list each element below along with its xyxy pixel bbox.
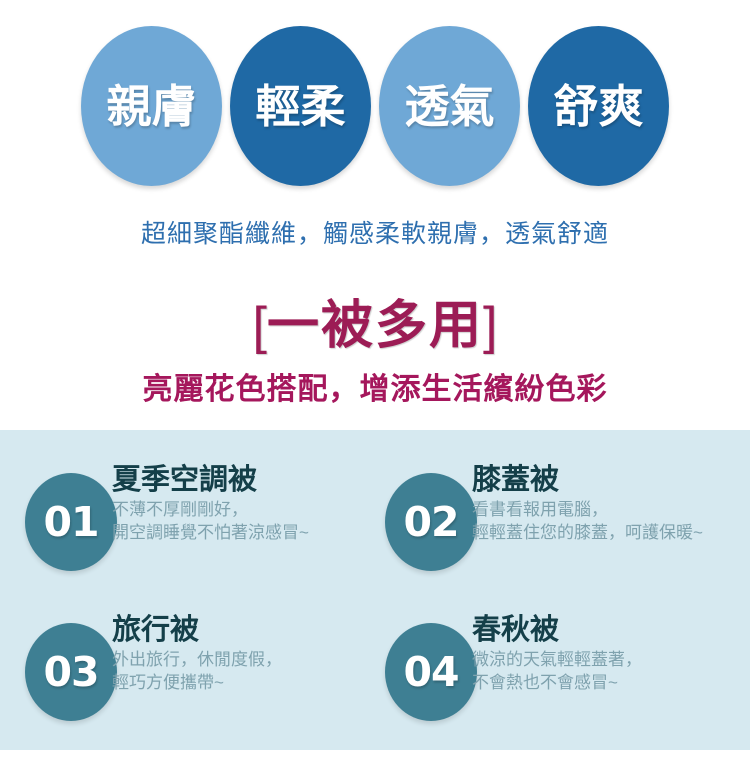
usage-number-04: 04 bbox=[403, 648, 458, 696]
usage-badge-02: 02 bbox=[385, 473, 477, 571]
usage-title-03: 旅行被 bbox=[112, 615, 372, 646]
material-subtitle: 超細聚酯纖維，觸感柔軟親膚，透氣舒適 bbox=[0, 214, 750, 250]
feature-circle-row: 親膚 輕柔 透氣 舒爽 bbox=[0, 26, 750, 186]
usage-item-04: 04 春秋被 微涼的天氣輕輕蓋著， 不會熱也不會感冒~ bbox=[360, 615, 735, 765]
headline-bracket-left: [ bbox=[253, 297, 267, 355]
usage-grid: 01 夏季空調被 不薄不厚剛剛好， 開空調睡覺不怕著涼感冒~ 02 膝蓋被 看書… bbox=[0, 430, 750, 750]
usage-desc-01-line1: 不薄不厚剛剛好， bbox=[112, 498, 372, 521]
usage-number-01: 01 bbox=[43, 498, 98, 546]
feature-circle-3-label: 透氣 bbox=[404, 84, 494, 129]
usage-number-03: 03 bbox=[43, 648, 98, 696]
feature-circle-2: 輕柔 bbox=[230, 26, 371, 186]
usage-item-02: 02 膝蓋被 看書看報用電腦， 輕輕蓋住您的膝蓋，呵護保暖~ bbox=[360, 465, 735, 615]
feature-circle-1: 親膚 bbox=[81, 26, 222, 186]
usage-body-03: 旅行被 外出旅行，休閒度假， 輕巧方便攜帶~ bbox=[112, 615, 372, 695]
feature-circle-4: 舒爽 bbox=[528, 26, 669, 186]
usage-desc-01-line2: 開空調睡覺不怕著涼感冒~ bbox=[112, 521, 372, 544]
usage-desc-02-line1: 看書看報用電腦， bbox=[472, 498, 732, 521]
usage-item-01: 01 夏季空調被 不薄不厚剛剛好， 開空調睡覺不怕著涼感冒~ bbox=[0, 465, 375, 615]
usage-badge-04: 04 bbox=[385, 623, 477, 721]
usage-badge-03: 03 bbox=[25, 623, 117, 721]
usage-title-04: 春秋被 bbox=[472, 615, 732, 646]
product-feature-banner: 親膚 輕柔 透氣 舒爽 超細聚酯纖維，觸感柔軟親膚，透氣舒適 [一被多用] 亮麗… bbox=[0, 0, 750, 750]
feature-circle-2-label: 輕柔 bbox=[255, 84, 345, 129]
usage-desc-04-line2: 不會熱也不會感冒~ bbox=[472, 671, 732, 694]
usage-body-02: 膝蓋被 看書看報用電腦， 輕輕蓋住您的膝蓋，呵護保暖~ bbox=[472, 465, 732, 545]
usage-title-02: 膝蓋被 bbox=[472, 465, 732, 496]
headline-text: 一被多用 bbox=[267, 297, 483, 355]
usage-section: 01 夏季空調被 不薄不厚剛剛好， 開空調睡覺不怕著涼感冒~ 02 膝蓋被 看書… bbox=[0, 430, 750, 750]
top-feature-section: 親膚 輕柔 透氣 舒爽 超細聚酯纖維，觸感柔軟親膚，透氣舒適 [一被多用] 亮麗… bbox=[0, 0, 750, 430]
usage-desc-02-line2: 輕輕蓋住您的膝蓋，呵護保暖~ bbox=[472, 521, 732, 544]
headline: [一被多用] bbox=[0, 283, 750, 358]
usage-body-01: 夏季空調被 不薄不厚剛剛好， 開空調睡覺不怕著涼感冒~ bbox=[112, 465, 372, 545]
feature-circle-3: 透氣 bbox=[379, 26, 520, 186]
tagline: 亮麗花色搭配，增添生活繽紛色彩 bbox=[0, 364, 750, 408]
usage-item-03: 03 旅行被 外出旅行，休閒度假， 輕巧方便攜帶~ bbox=[0, 615, 375, 765]
usage-number-02: 02 bbox=[403, 498, 458, 546]
usage-desc-03-line1: 外出旅行，休閒度假， bbox=[112, 648, 372, 671]
headline-bracket-right: ] bbox=[483, 297, 497, 355]
usage-desc-03-line2: 輕巧方便攜帶~ bbox=[112, 671, 372, 694]
usage-desc-04-line1: 微涼的天氣輕輕蓋著， bbox=[472, 648, 732, 671]
feature-circle-4-label: 舒爽 bbox=[553, 84, 643, 129]
usage-title-01: 夏季空調被 bbox=[112, 465, 372, 496]
usage-badge-01: 01 bbox=[25, 473, 117, 571]
feature-circle-1-label: 親膚 bbox=[106, 84, 196, 129]
usage-body-04: 春秋被 微涼的天氣輕輕蓋著， 不會熱也不會感冒~ bbox=[472, 615, 732, 695]
